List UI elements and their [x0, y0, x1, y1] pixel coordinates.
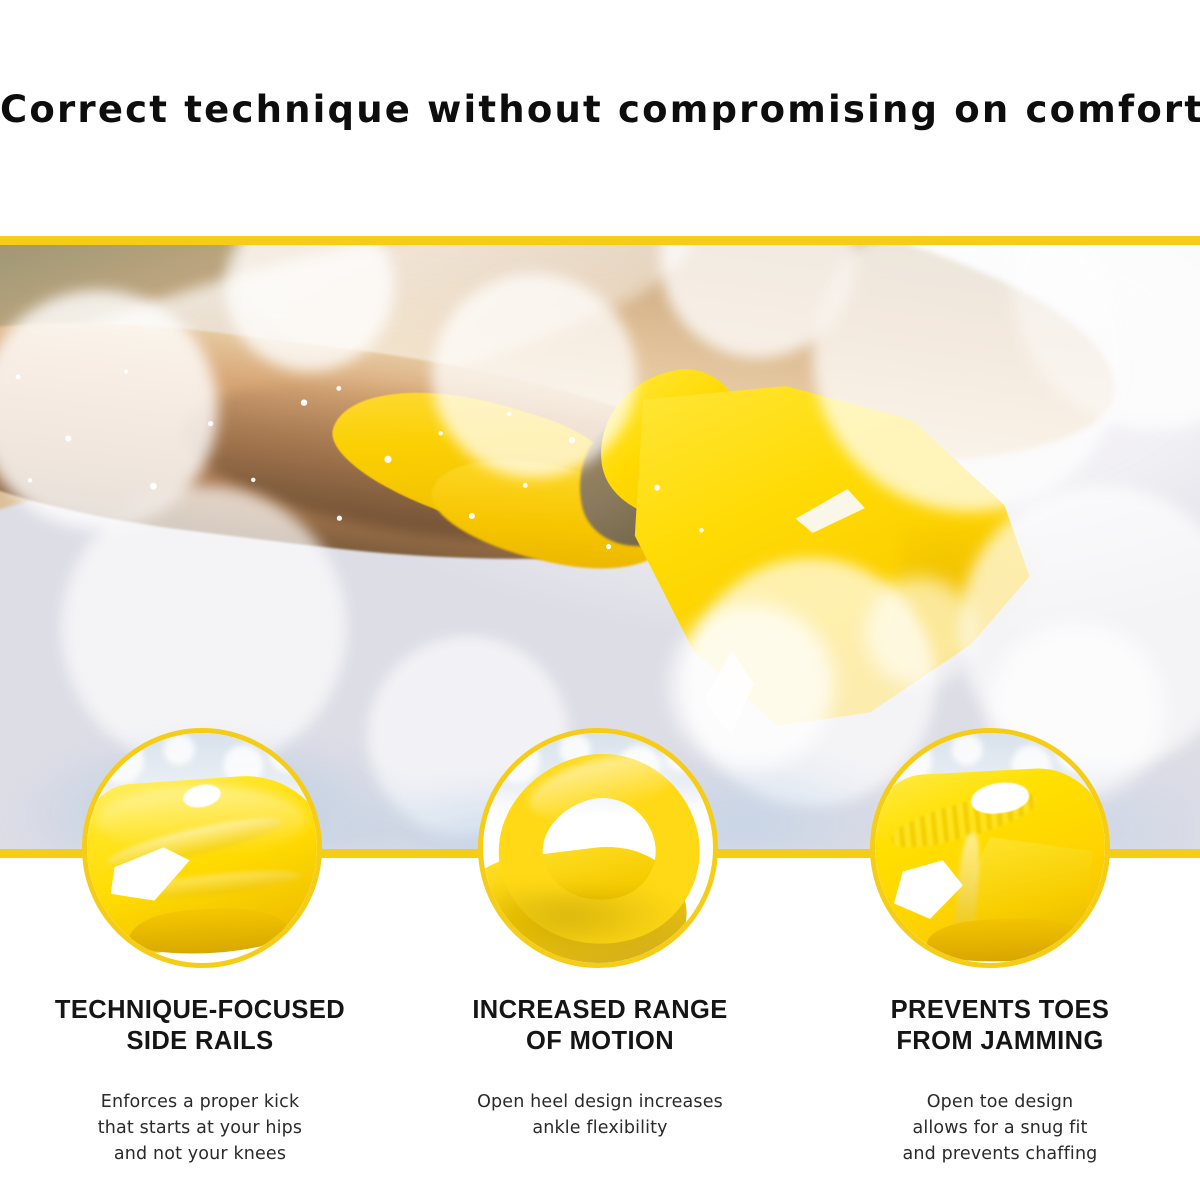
- hero-top-border: [0, 236, 1200, 245]
- feature-title-line-1: PREVENTS TOES: [820, 995, 1180, 1026]
- feature-circle-prevents-toes-from-jamming: [870, 728, 1110, 968]
- feature-title-line-2: SIDE RAILS: [20, 1026, 380, 1057]
- feature-item-side-rails: TECHNIQUE-FOCUSED SIDE RAILS Enforces a …: [0, 995, 400, 1167]
- circle-image-open-toe: [875, 733, 1105, 963]
- feature-title: INCREASED RANGE OF MOTION: [420, 995, 780, 1057]
- feature-item-range-of-motion: INCREASED RANGE OF MOTION Open heel desi…: [400, 995, 800, 1141]
- product-feature-infographic: Correct technique without compromising o…: [0, 0, 1200, 1200]
- feature-title-line-2: FROM JAMMING: [820, 1026, 1180, 1057]
- feature-description: Open toe design allows for a snug fit an…: [830, 1089, 1170, 1167]
- feature-desc-line-3: and not your knees: [30, 1141, 370, 1167]
- feature-item-prevents-toes: PREVENTS TOES FROM JAMMING Open toe desi…: [800, 995, 1200, 1167]
- feature-description: Open heel design increases ankle flexibi…: [430, 1089, 770, 1141]
- feature-desc-line-1: Enforces a proper kick: [30, 1089, 370, 1115]
- feature-title: PREVENTS TOES FROM JAMMING: [820, 995, 1180, 1057]
- fin-heel-shadow: [493, 889, 683, 959]
- feature-title-line-1: INCREASED RANGE: [420, 995, 780, 1026]
- circle-image-side-rails: [87, 733, 317, 963]
- feature-description: Enforces a proper kick that starts at yo…: [30, 1089, 370, 1167]
- feature-desc-line-3: and prevents chaffing: [830, 1141, 1170, 1167]
- feature-desc-line-2: that starts at your hips: [30, 1115, 370, 1141]
- feature-title-line-1: TECHNIQUE-FOCUSED: [20, 995, 380, 1026]
- feature-circle-increased-range-of-motion: [478, 728, 718, 968]
- feature-desc-line-1: Open toe design: [830, 1089, 1170, 1115]
- feature-list: TECHNIQUE-FOCUSED SIDE RAILS Enforces a …: [0, 995, 1200, 1200]
- feature-circle-technique-focused-side-rails: [82, 728, 322, 968]
- feature-title-line-2: OF MOTION: [420, 1026, 780, 1057]
- feature-title: TECHNIQUE-FOCUSED SIDE RAILS: [20, 995, 380, 1057]
- circle-image-open-heel: [483, 733, 713, 963]
- feature-desc-line-2: ankle flexibility: [430, 1115, 770, 1141]
- feature-desc-line-2: allows for a snug fit: [830, 1115, 1170, 1141]
- page-headline: Correct technique without compromising o…: [0, 88, 1200, 131]
- feature-desc-line-1: Open heel design increases: [430, 1089, 770, 1115]
